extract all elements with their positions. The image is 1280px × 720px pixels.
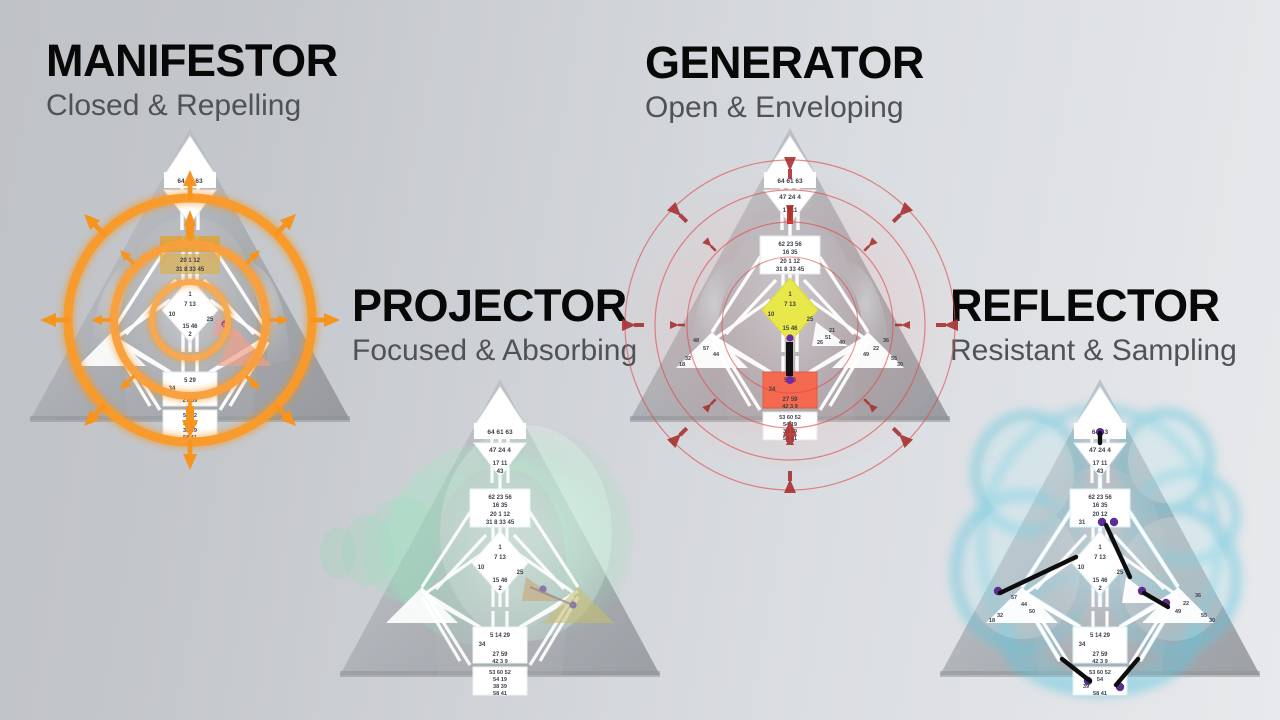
svg-text:30: 30 <box>897 362 903 368</box>
svg-text:18: 18 <box>679 362 685 368</box>
svg-text:58 41: 58 41 <box>783 436 797 442</box>
svg-text:27 59: 27 59 <box>1092 652 1108 658</box>
svg-text:34: 34 <box>1079 642 1086 648</box>
svg-text:57: 57 <box>703 346 709 352</box>
svg-text:26: 26 <box>817 340 823 346</box>
svg-text:20 12: 20 12 <box>1092 512 1108 518</box>
svg-text:42 3 9: 42 3 9 <box>782 404 798 410</box>
svg-text:30: 30 <box>1209 618 1215 624</box>
reflector-title-block: REFLECTOR Resistant & Sampling <box>950 283 1237 370</box>
svg-text:58 41: 58 41 <box>183 435 197 441</box>
svg-text:17 11: 17 11 <box>493 461 508 467</box>
svg-text:62 23 56: 62 23 56 <box>488 495 512 501</box>
svg-text:27 59: 27 59 <box>782 397 798 403</box>
svg-text:64 61 63: 64 61 63 <box>487 429 513 436</box>
svg-text:58 41: 58 41 <box>1093 691 1107 697</box>
svg-text:10: 10 <box>1078 565 1085 571</box>
svg-text:42 3 9: 42 3 9 <box>492 659 508 665</box>
svg-text:64 61 63: 64 61 63 <box>777 178 803 185</box>
svg-text:49: 49 <box>1175 609 1181 615</box>
svg-text:58 41: 58 41 <box>493 691 507 697</box>
svg-text:44: 44 <box>713 352 720 358</box>
svg-text:20 1 12: 20 1 12 <box>780 259 801 265</box>
svg-text:62 23 56: 62 23 56 <box>778 242 802 248</box>
svg-text:53 60 52: 53 60 52 <box>489 670 511 676</box>
svg-text:38 39: 38 39 <box>493 684 507 690</box>
svg-text:27 59: 27 59 <box>182 398 198 404</box>
svg-text:50: 50 <box>1029 609 1035 615</box>
svg-text:54: 54 <box>1097 677 1104 683</box>
svg-text:62 23 56: 62 23 56 <box>178 242 202 248</box>
svg-text:36: 36 <box>883 338 889 344</box>
svg-text:31 8 33 45: 31 8 33 45 <box>486 520 515 526</box>
svg-text:18: 18 <box>989 618 995 624</box>
svg-text:64 61 63: 64 61 63 <box>177 178 203 185</box>
svg-text:53 60 52: 53 60 52 <box>1089 670 1111 676</box>
svg-text:20 1 12: 20 1 12 <box>490 512 511 518</box>
projector-title-block: PROJECTOR Focused & Absorbing <box>352 283 637 370</box>
svg-text:21: 21 <box>829 328 835 334</box>
svg-text:7 13: 7 13 <box>1094 555 1106 561</box>
svg-text:7 13: 7 13 <box>494 555 506 561</box>
svg-text:48: 48 <box>693 338 699 344</box>
svg-text:10: 10 <box>169 312 176 318</box>
svg-text:54 19: 54 19 <box>783 422 797 428</box>
generator-title: GENERATOR <box>645 40 924 85</box>
svg-text:47 24 4: 47 24 4 <box>1089 447 1111 454</box>
svg-text:55: 55 <box>1201 613 1207 619</box>
svg-text:22: 22 <box>873 346 879 352</box>
svg-text:44: 44 <box>1021 602 1028 608</box>
svg-text:15 46: 15 46 <box>1092 578 1108 584</box>
svg-text:10: 10 <box>768 312 775 318</box>
svg-text:49: 49 <box>863 352 869 358</box>
manifestor-title: MANIFESTOR <box>46 38 338 83</box>
svg-text:25: 25 <box>207 317 214 323</box>
generator-panel[interactable]: 64 61 63 47 24 4 17 11 43 62 23 56 16 35… <box>620 120 960 440</box>
svg-text:15 46: 15 46 <box>182 324 198 330</box>
svg-text:5 14 29: 5 14 29 <box>490 633 511 639</box>
svg-text:36: 36 <box>1195 593 1201 599</box>
svg-text:54 19: 54 19 <box>493 677 507 683</box>
svg-text:31 8 33 45: 31 8 33 45 <box>176 267 205 273</box>
svg-text:38 39: 38 39 <box>183 428 197 434</box>
reflector-panel[interactable]: 64 63 47 24 4 17 11 43 62 23 56 16 35 20… <box>930 365 1270 695</box>
svg-text:40: 40 <box>839 340 845 346</box>
svg-text:16 35: 16 35 <box>782 250 798 256</box>
svg-text:51: 51 <box>825 335 831 341</box>
svg-text:5 14 29: 5 14 29 <box>1090 633 1111 639</box>
svg-text:16 35: 16 35 <box>492 503 508 509</box>
manifestor-panel[interactable]: 64 61 63 47 24 4 62 23 56 20 1 12 31 8 3… <box>20 120 360 440</box>
manifestor-bodygraph[interactable]: 64 61 63 47 24 4 62 23 56 20 1 12 31 8 3… <box>20 120 360 440</box>
svg-text:53 60 52: 53 60 52 <box>779 415 801 421</box>
svg-text:54 19: 54 19 <box>183 421 197 427</box>
svg-text:17 11: 17 11 <box>1093 461 1108 467</box>
svg-text:31: 31 <box>1079 520 1086 526</box>
svg-text:27 59: 27 59 <box>492 652 508 658</box>
svg-text:31 8 33 45: 31 8 33 45 <box>776 267 805 273</box>
svg-text:10: 10 <box>478 565 485 571</box>
svg-text:57: 57 <box>1011 595 1017 601</box>
svg-text:62 23 56: 62 23 56 <box>1088 495 1112 501</box>
generator-title-block: GENERATOR Open & Enveloping <box>645 40 924 127</box>
svg-text:25: 25 <box>517 570 524 576</box>
svg-text:47 24 4: 47 24 4 <box>489 447 511 454</box>
svg-text:53 52: 53 52 <box>183 413 197 419</box>
manifestor-subtitle: Closed & Repelling <box>46 87 338 125</box>
svg-text:47 24 4: 47 24 4 <box>779 194 801 201</box>
svg-text:25: 25 <box>807 317 814 323</box>
svg-text:25: 25 <box>1117 570 1124 576</box>
svg-text:42 3 9: 42 3 9 <box>1092 659 1108 665</box>
svg-text:15 46: 15 46 <box>782 326 798 332</box>
svg-text:47 24 4: 47 24 4 <box>179 194 201 201</box>
projector-bodygraph[interactable]: 64 61 63 47 24 4 17 11 43 62 23 56 16 35… <box>330 365 670 695</box>
svg-text:21: 21 <box>222 322 228 327</box>
svg-text:43: 43 <box>1097 469 1104 475</box>
svg-text:5 29: 5 29 <box>184 378 196 384</box>
svg-text:43: 43 <box>497 469 504 475</box>
reflector-bodygraph[interactable]: 64 63 47 24 4 17 11 43 62 23 56 16 35 20… <box>930 365 1270 695</box>
svg-text:32: 32 <box>685 356 691 362</box>
svg-text:7 13: 7 13 <box>784 302 796 308</box>
svg-text:34: 34 <box>479 642 486 648</box>
reflector-subtitle: Resistant & Sampling <box>950 332 1237 370</box>
svg-text:34: 34 <box>769 387 776 393</box>
manifestor-title-block: MANIFESTOR Closed & Repelling <box>46 38 338 125</box>
reflector-title: REFLECTOR <box>950 283 1237 328</box>
generator-bodygraph[interactable]: 64 61 63 47 24 4 17 11 43 62 23 56 16 35… <box>620 120 960 440</box>
svg-text:22: 22 <box>1183 601 1189 607</box>
svg-text:20 1 12: 20 1 12 <box>180 258 201 264</box>
projector-title: PROJECTOR <box>352 283 637 328</box>
svg-text:38 39: 38 39 <box>783 429 797 435</box>
projector-subtitle: Focused & Absorbing <box>352 332 637 370</box>
projector-panel[interactable]: 64 61 63 47 24 4 17 11 43 62 23 56 16 35… <box>330 365 670 695</box>
svg-text:7 13: 7 13 <box>184 302 196 308</box>
svg-text:34: 34 <box>169 386 176 392</box>
svg-text:16 35: 16 35 <box>1092 503 1108 509</box>
svg-text:32: 32 <box>997 613 1003 619</box>
poster-canvas: MANIFESTOR Closed & Repelling <box>0 0 1280 720</box>
svg-text:15 46: 15 46 <box>492 578 508 584</box>
